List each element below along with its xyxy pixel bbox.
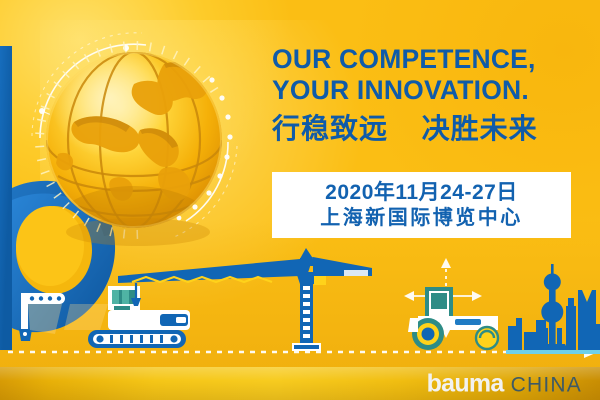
event-date-text: 2020年11月24-27日 — [325, 181, 518, 205]
event-venue-text: 上海新国际博览中心 — [320, 206, 523, 230]
bauma-china-banner: OUR COMPETENCE, YOUR INNOVATION. 行稳致远 决胜… — [0, 0, 600, 400]
bauma-china-logo[interactable]: bauma CHINA — [427, 371, 582, 396]
headline-block: OUR COMPETENCE, YOUR INNOVATION. 行稳致远 决胜… — [272, 44, 592, 145]
headline-chinese-right: 决胜未来 — [422, 113, 538, 144]
logo-wordmark-china: CHINA — [511, 374, 582, 395]
construction-illustration — [0, 246, 600, 368]
headline-line-2: YOUR INNOVATION. — [272, 75, 592, 106]
logo-bar: bauma CHINA — [0, 367, 600, 400]
shanghai-skyline-icon — [508, 264, 600, 350]
logo-wordmark-bauma: bauma — [427, 371, 504, 396]
gold-globe-icon — [14, 18, 254, 258]
headline-chinese: 行稳致远 决胜未来 — [272, 113, 592, 145]
skyline-ground-strip — [506, 350, 600, 354]
event-date-panel: 2020年11月24-27日 上海新国际博览中心 — [272, 172, 571, 238]
crawler-excavator-icon — [64, 286, 190, 348]
headline-chinese-left: 行稳致远 — [272, 113, 388, 144]
drilling-rig-icon — [19, 293, 65, 341]
headline-line-1: OUR COMPETENCE, — [272, 44, 592, 75]
